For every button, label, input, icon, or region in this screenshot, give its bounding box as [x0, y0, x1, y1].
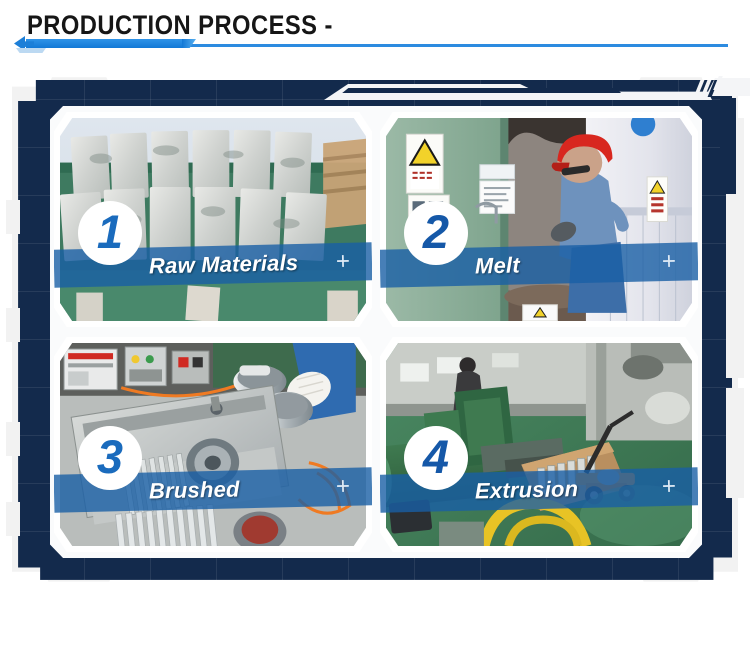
process-card-grid: Raw Materials + 1 [54, 112, 698, 552]
process-card-4[interactable]: Extrusion + 4 [380, 337, 698, 552]
process-number-value: 3 [97, 433, 123, 480]
frame-tick-left-4 [6, 502, 20, 536]
frame-tick-right-2 [726, 388, 744, 498]
plus-icon[interactable]: + [336, 475, 351, 499]
process-number-value: 1 [97, 208, 123, 255]
process-label-1: Raw Materials [149, 250, 299, 280]
frame-tick-left-3 [6, 422, 20, 456]
ornament-plate-b [336, 88, 646, 93]
process-card-1[interactable]: Raw Materials + 1 [54, 112, 372, 327]
production-process-section: PRODUCTION PROCESS - [0, 0, 750, 667]
frame-corner-right [720, 98, 736, 194]
page-title: PRODUCTION PROCESS - [27, 10, 333, 41]
left-arrow-shadow [16, 48, 46, 53]
process-card-3[interactable]: Brushed + 3 [54, 337, 372, 552]
frame-tick-left-1 [6, 200, 20, 234]
section-header: PRODUCTION PROCESS - [0, 0, 750, 62]
process-number-2: 2 [404, 201, 468, 265]
tech-frame: Raw Materials + 1 [12, 70, 738, 590]
plus-icon[interactable]: + [336, 250, 351, 274]
process-label-3: Brushed [149, 477, 240, 505]
process-label-4: Extrusion [475, 476, 579, 504]
process-number-4: 4 [404, 426, 468, 490]
process-number-value: 2 [423, 208, 449, 255]
process-number-1: 1 [78, 201, 142, 265]
plus-icon[interactable]: + [662, 475, 677, 499]
process-number-value: 4 [423, 433, 449, 480]
process-number-3: 3 [78, 426, 142, 490]
process-card-2[interactable]: Melt + 2 [380, 112, 698, 327]
frame-tick-left-2 [6, 308, 20, 342]
plus-icon[interactable]: + [662, 250, 677, 274]
process-label-2: Melt [475, 253, 520, 280]
frame-top-ornament [312, 70, 672, 100]
title-bar [26, 39, 186, 48]
